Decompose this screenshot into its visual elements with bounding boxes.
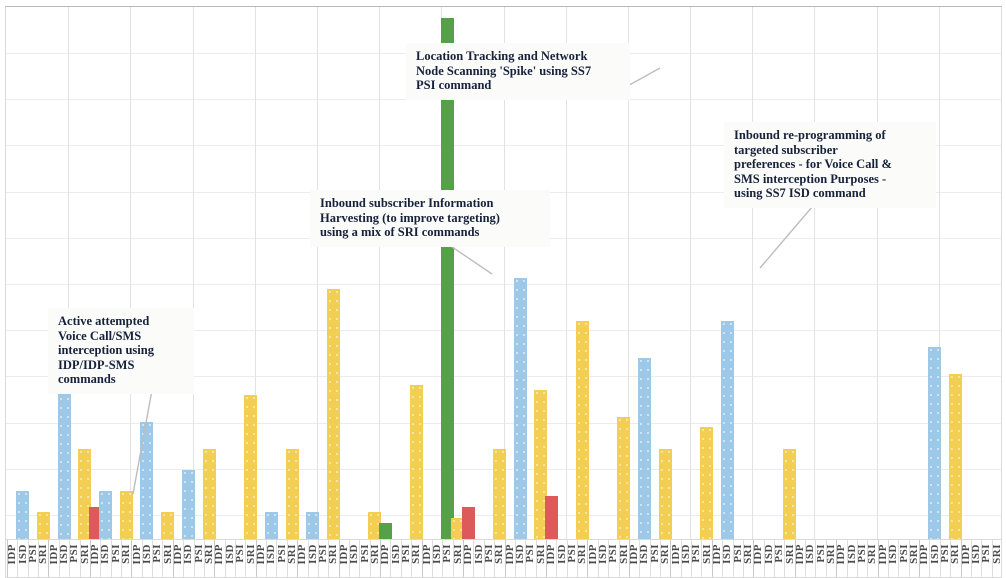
annotation-isd-reprogramming: Inbound re-programming of targeted subsc…: [724, 122, 936, 208]
leader-line-idp: [133, 390, 152, 494]
annotation-idp-interception: Active attempted Voice Call/SMS intercep…: [48, 308, 194, 394]
annotation-psi-spike: Location Tracking and Network Node Scann…: [406, 43, 630, 100]
leader-line-isd: [760, 200, 818, 268]
ss7-signalling-bar-chart: Location Tracking and Network Node Scann…: [0, 0, 1006, 578]
annotation-sri-harvesting: Inbound subscriber Information Harvestin…: [310, 190, 550, 247]
